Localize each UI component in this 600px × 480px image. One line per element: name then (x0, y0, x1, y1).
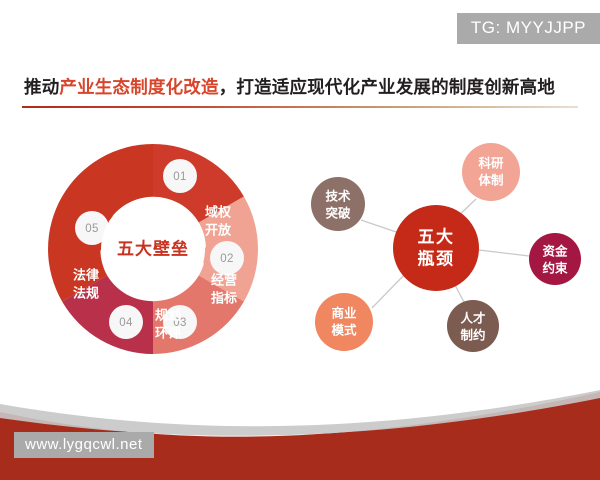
watermark-top-right: TG: MYYJJPP (457, 13, 600, 44)
segment-02-number: 02 (220, 253, 234, 265)
connector-business (372, 272, 407, 308)
page-title: 推动产业生态制度化改造，打造适应现代化产业发展的制度创新高地 (24, 74, 555, 100)
node-research-label-line2: 体制 (478, 172, 503, 187)
node-tech-label-line2: 突破 (325, 205, 351, 220)
five-bottlenecks-diagram: 技术 突破 科研 体制 资金 约束 人才 制约 商业 模式 (288, 132, 584, 364)
network-node-center[interactable]: 五大 瓶颈 (393, 205, 479, 291)
slide-canvas: TG: MYYJJPP 推动产业生态制度化改造，打造适应现代化产业发展的制度创新… (0, 0, 600, 480)
title-highlight: 产业生态制度化改造 (59, 77, 218, 97)
five-barriers-diagram: 资质 牌照 01 域权 开放 02 (28, 136, 278, 362)
network-node-talent[interactable]: 人才 制约 (447, 300, 499, 352)
node-funding-label-line2: 约束 (542, 260, 568, 275)
donut-center-hub: 五大壁垒 (101, 197, 205, 301)
network-node-tech[interactable]: 技术 突破 (311, 177, 365, 231)
node-business-label-line1: 商业 (331, 305, 357, 320)
segment-01-number: 01 (173, 171, 187, 183)
segment-02-label-line2: 开放 (205, 222, 232, 237)
segment-04-label-line2: 环评 (155, 325, 181, 340)
network-node-funding[interactable]: 资金 约束 (529, 233, 581, 285)
segment-02-label-line1: 域权 (205, 204, 232, 219)
network-center-label-line2: 瓶颈 (418, 248, 455, 268)
watermark-bottom-left: www.lygqcwl.net (14, 432, 154, 458)
node-funding-label-line1: 资金 (542, 243, 568, 258)
title-divider (22, 106, 578, 108)
node-business-label-line2: 模式 (331, 322, 357, 337)
network-node-research[interactable]: 科研 体制 (462, 143, 520, 201)
donut-center-label: 五大壁垒 (117, 238, 189, 258)
node-talent-label-line1: 人才 (460, 310, 485, 325)
segment-03-label-line2: 指标 (211, 290, 237, 305)
slide-title-block: 推动产业生态制度化改造，打造适应现代化产业发展的制度创新高地 (0, 74, 600, 120)
bottom-decorative-band (0, 360, 600, 480)
node-research-label-line1: 科研 (478, 155, 504, 170)
title-suffix: ，打造适应现代化产业发展的制度创新高地 (219, 77, 555, 97)
network-center-label-line1: 五大 (418, 226, 455, 246)
segment-05-label-line2: 法规 (73, 285, 99, 300)
segment-04-number: 04 (119, 317, 133, 329)
connector-funding (479, 250, 529, 256)
segment-03-label-line1: 经营 (211, 272, 237, 287)
segment-05-label-line1: 法律 (73, 267, 99, 282)
title-prefix: 推动 (24, 77, 59, 97)
segment-04-label-line1: 规划 (155, 307, 181, 322)
node-tech-label-line1: 技术 (325, 188, 351, 203)
node-talent-label-line2: 制约 (460, 327, 485, 342)
segment-05-number: 05 (85, 223, 99, 235)
network-node-business[interactable]: 商业 模式 (315, 293, 373, 351)
